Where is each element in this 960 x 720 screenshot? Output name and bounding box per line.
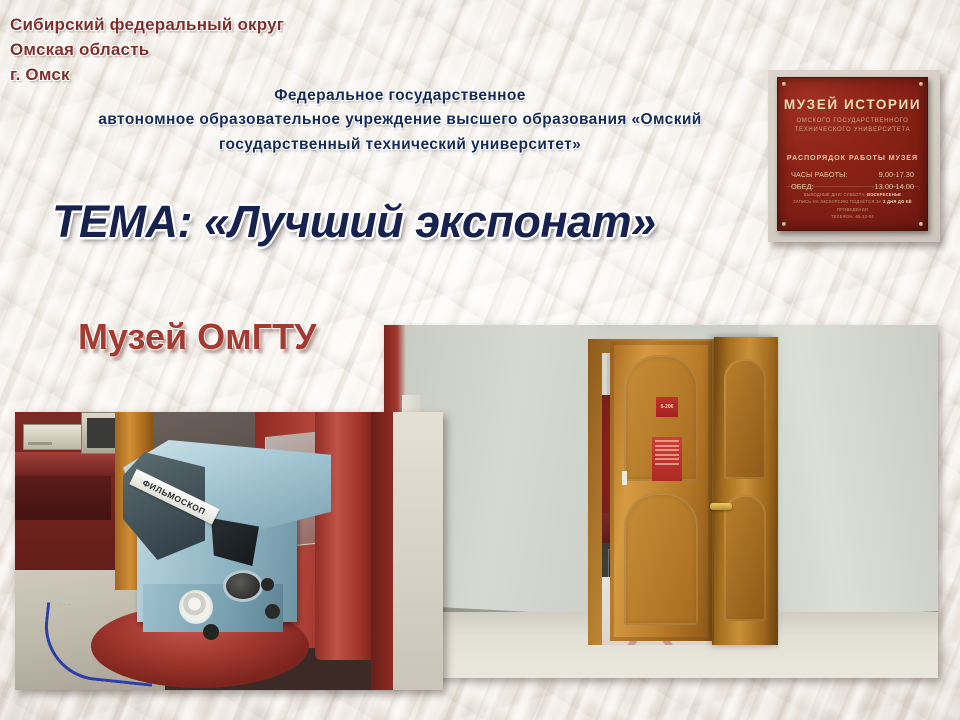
museum-desk-body bbox=[15, 476, 111, 520]
red-pillar bbox=[315, 412, 377, 660]
screw-icon bbox=[782, 222, 786, 226]
organization-line-1: Федеральное государственное bbox=[30, 86, 770, 106]
film-reel-icon bbox=[179, 590, 213, 624]
sign-text-line bbox=[655, 454, 679, 456]
door-latch-plate bbox=[622, 471, 627, 485]
plaque-footnotes: ВЫХОДНЫЕ ДНИ: СУББОТА, ВОСКРЕСЕНЬЕ ЗАПИС… bbox=[786, 186, 919, 221]
door-info-sign bbox=[652, 437, 682, 481]
museum-caption: Музей ОмГТУ bbox=[78, 316, 317, 358]
door-open-leaf bbox=[714, 337, 778, 645]
organization-name: Федеральное государственное автономное о… bbox=[30, 86, 770, 159]
filmoscope-photo: ФИЛЬМОСКОП bbox=[15, 412, 443, 690]
region-line-city: г. Омск bbox=[10, 64, 430, 86]
plaque-schedule-row: ЧАСЫ РАБОТЫ: 9.00-17.30 bbox=[791, 169, 914, 181]
door-panel-lower bbox=[624, 493, 698, 625]
doorway-photo: МУЗЕЙ ТЕХНИЧЕСКОГО УНИВЕРСИТЕТА 5-206 bbox=[384, 325, 938, 678]
organization-line-2: автономное образовательное учреждение вы… bbox=[30, 110, 770, 130]
region-header: Сибирский федеральный округ Омская облас… bbox=[10, 14, 430, 89]
vintage-computer-case bbox=[23, 424, 83, 450]
right-wall-red-edge bbox=[371, 412, 393, 690]
filmoscope-knob bbox=[265, 604, 280, 619]
film-spool-icon bbox=[223, 570, 263, 602]
plaque-hours-value: 9.00-17.30 bbox=[879, 169, 914, 181]
region-line-district: Сибирский федеральный округ bbox=[10, 14, 430, 36]
plaque-schedule-heading: РАСПОРЯДОК РАБОТЫ МУЗЕЯ bbox=[778, 153, 927, 162]
museum-desk-top bbox=[15, 452, 119, 476]
sign-text-line bbox=[655, 458, 679, 460]
floppy-slot-icon bbox=[28, 442, 52, 445]
screw-icon bbox=[919, 82, 923, 86]
door-handle-plate-icon bbox=[724, 493, 732, 519]
plaque-footnote-phone: ТЕЛЕФОН: 65-33-94 bbox=[786, 213, 919, 221]
right-wall-strip bbox=[371, 412, 443, 690]
sign-text-line bbox=[655, 463, 679, 465]
page-title: ТЕМА: «Лучший экспонат» bbox=[52, 196, 656, 248]
sign-text-line bbox=[655, 440, 679, 442]
organization-line-3: государственный технический университет» bbox=[30, 135, 770, 155]
sign-text-line bbox=[655, 449, 679, 451]
door-room-number-sign: 5-206 bbox=[656, 397, 678, 417]
plaque-footnote-weekend: ВЫХОДНЫЕ ДНИ: СУББОТА, ВОСКРЕСЕНЬЕ bbox=[786, 191, 919, 199]
screw-icon bbox=[919, 222, 923, 226]
sign-text-line bbox=[655, 445, 679, 447]
monitor-screen bbox=[87, 418, 117, 448]
region-line-oblast: Омская область bbox=[10, 39, 430, 61]
plaque-footnote-booking: ЗАПИСЬ НА ЭКСКУРСИЮ ПОДАЁТСЯ ЗА 2 ДНЯ ДО… bbox=[786, 198, 919, 213]
open-door-panel-upper bbox=[724, 359, 766, 479]
screw-icon bbox=[782, 82, 786, 86]
plaque-subtitle: ОМСКОГО ГОСУДАРСТВЕННОГО ТЕХНИЧЕСКОГО УН… bbox=[778, 117, 927, 136]
filmoscope-knob bbox=[261, 578, 274, 591]
museum-plaque-photo: МУЗЕЙ ИСТОРИИ ОМСКОГО ГОСУДАРСТВЕННОГО Т… bbox=[768, 70, 940, 242]
plaque-hours-label: ЧАСЫ РАБОТЫ: bbox=[791, 169, 848, 181]
presentation-slide: Сибирский федеральный округ Омская облас… bbox=[0, 0, 960, 720]
filmoscope-knob bbox=[203, 624, 219, 640]
corridor-wall-right bbox=[758, 325, 938, 655]
plaque-board: МУЗЕЙ ИСТОРИИ ОМСКОГО ГОСУДАРСТВЕННОГО Т… bbox=[777, 77, 928, 231]
door-closed-leaf: 5-206 bbox=[610, 341, 712, 641]
plaque-title: МУЗЕЙ ИСТОРИИ bbox=[778, 97, 927, 112]
